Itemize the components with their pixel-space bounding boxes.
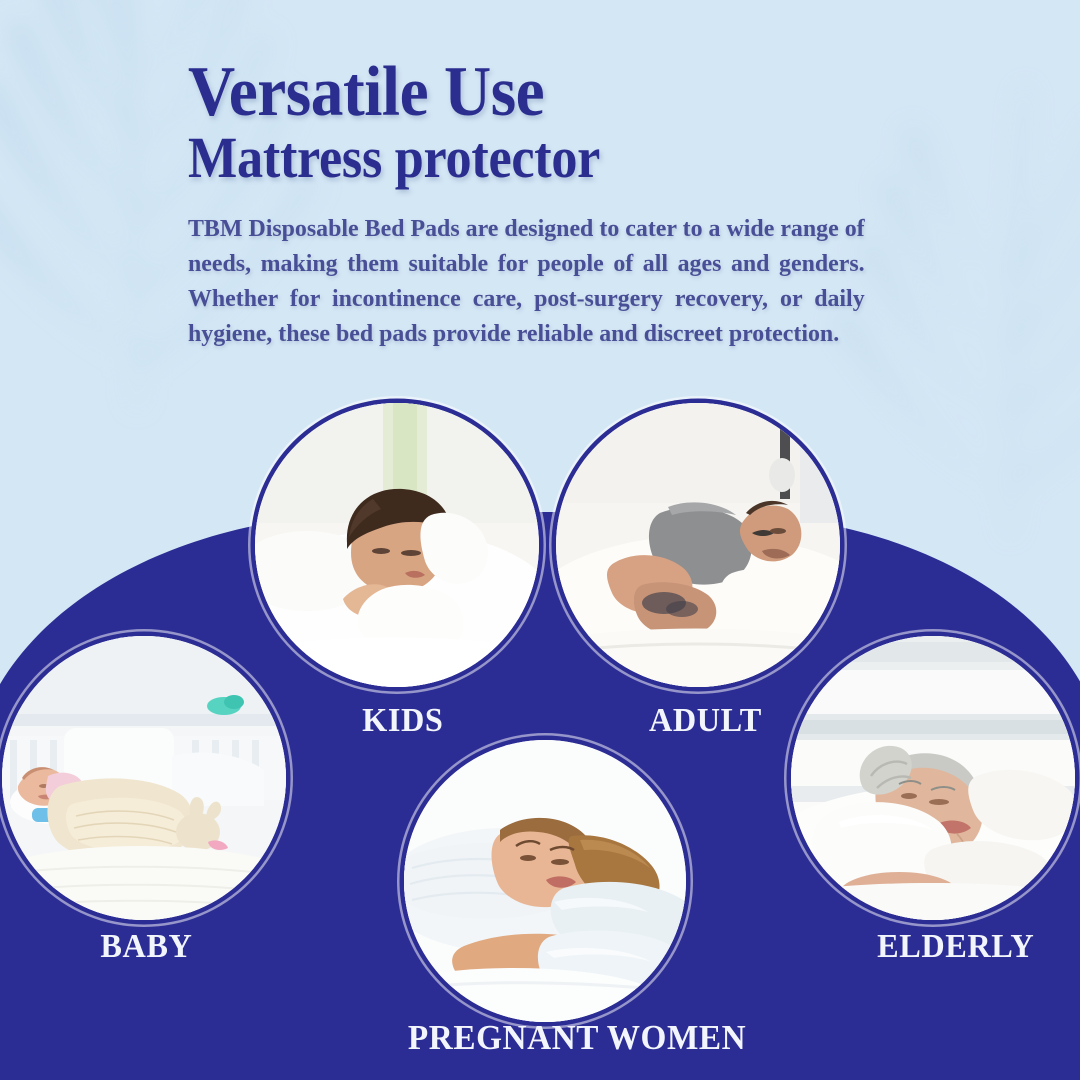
use-case-label-kids: KIDS xyxy=(362,702,443,740)
use-case-label-adult: ADULT xyxy=(649,702,762,740)
sleeping-pregnant-woman-photo-icon xyxy=(404,740,686,1022)
sleeping-child-photo-icon xyxy=(255,403,539,687)
poster-canvas: Versatile Use Mattress protector TBM Dis… xyxy=(0,0,1080,1080)
page-title-line-1: Versatile Use xyxy=(188,58,832,126)
use-case-circle-elderly[interactable] xyxy=(791,636,1075,920)
use-case-circle-baby[interactable] xyxy=(2,636,286,920)
sleeping-baby-crib-photo-icon xyxy=(2,636,286,920)
page-title-line-2: Mattress protector xyxy=(188,128,818,188)
use-case-label-pregnant-women: PREGNANT WOMEN xyxy=(408,1018,746,1058)
use-case-circle-pregnant-women[interactable] xyxy=(404,740,686,1022)
use-case-circle-kids[interactable] xyxy=(255,403,539,687)
sleeping-elderly-woman-photo-icon xyxy=(791,636,1075,920)
header-text-block: Versatile Use Mattress protector TBM Dis… xyxy=(188,58,888,352)
use-case-label-baby: BABY xyxy=(100,928,192,966)
use-case-label-elderly: ELDERLY xyxy=(877,928,1034,966)
description-paragraph: TBM Disposable Bed Pads are designed to … xyxy=(188,212,865,351)
